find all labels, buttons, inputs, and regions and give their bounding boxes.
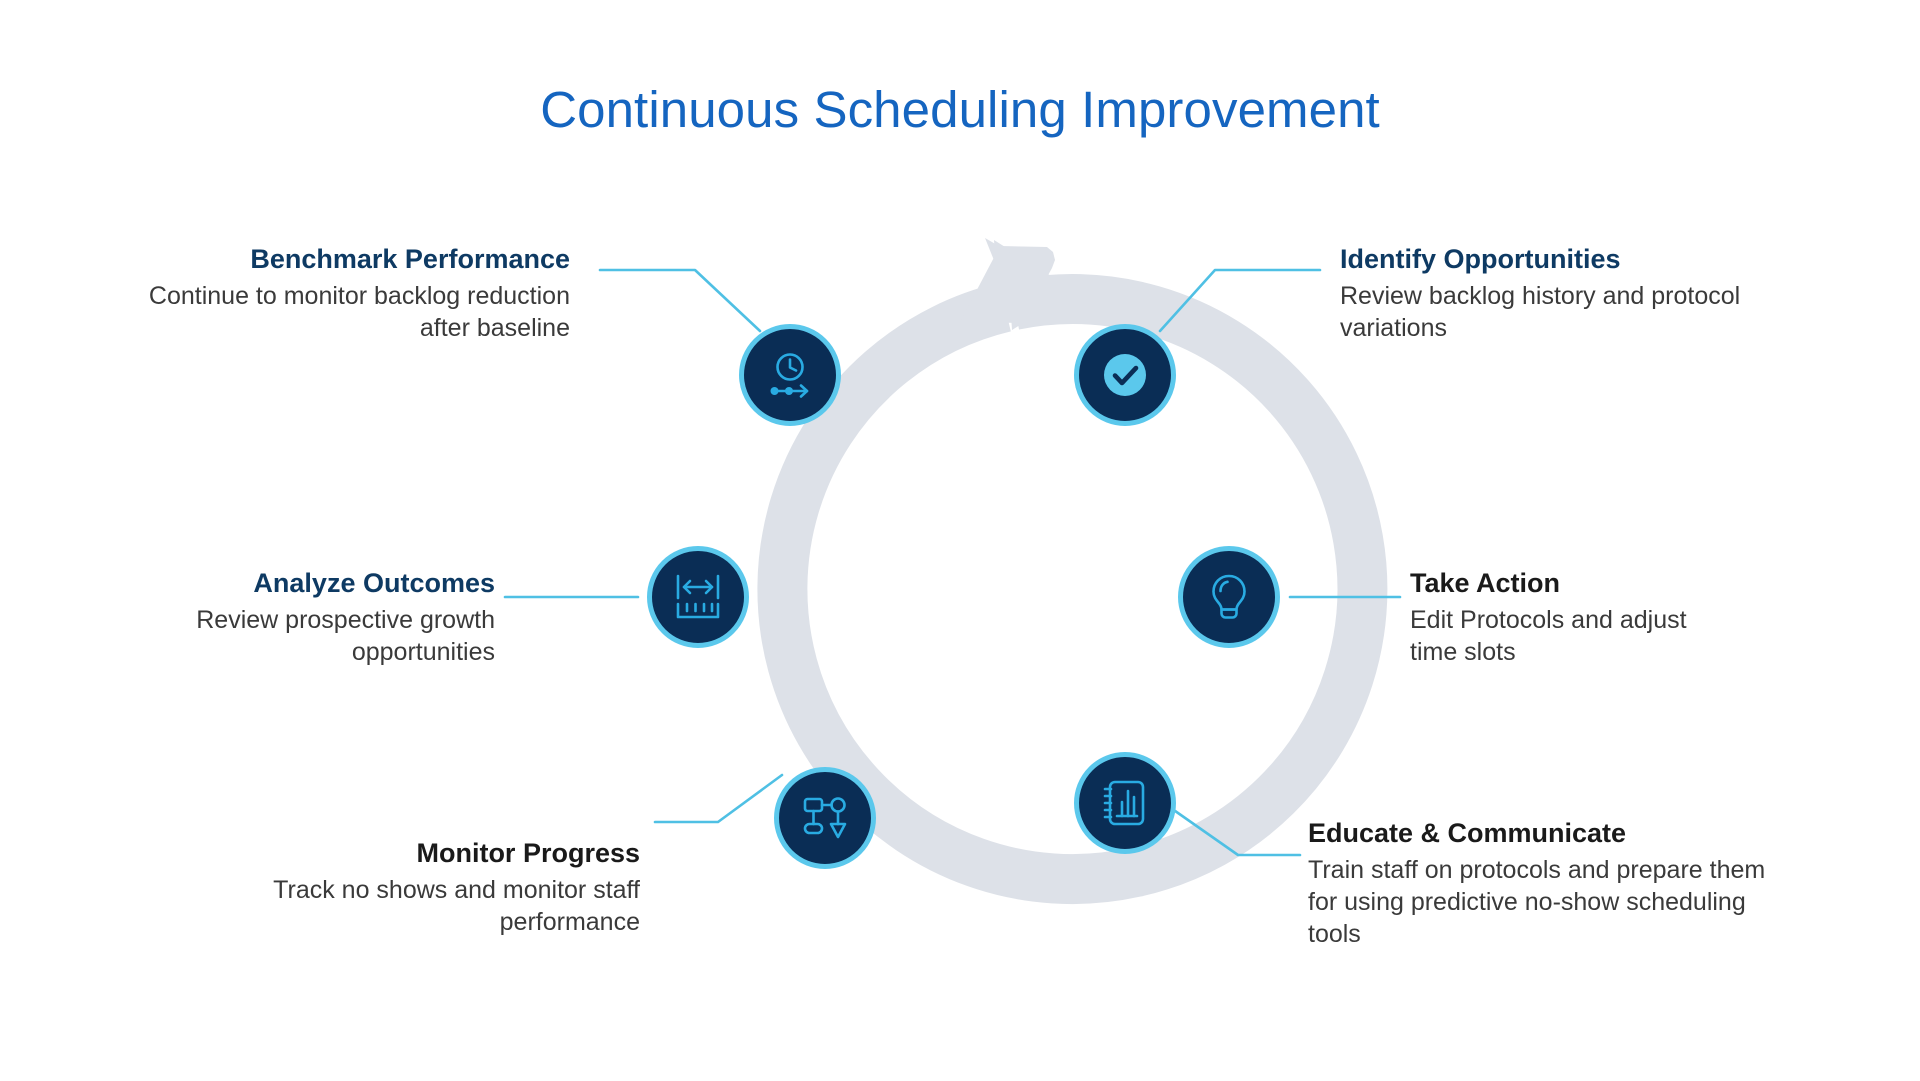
- body-take-action: Edit Protocols and adjust time slots: [1410, 604, 1740, 668]
- heading-monitor-progress: Monitor Progress: [200, 838, 640, 869]
- cycle-ring-arc: [782, 238, 1362, 879]
- label-analyze-outcomes: Analyze Outcomes Review prospective grow…: [120, 568, 495, 668]
- node-analyze-outcomes[interactable]: [647, 546, 749, 648]
- body-identify-opportunities: Review backlog history and protocol vari…: [1340, 280, 1770, 344]
- connector-identify-opportunities: [1160, 270, 1320, 331]
- body-monitor-progress: Track no shows and monitor staff perform…: [200, 874, 640, 938]
- clock-timeline-icon: [762, 347, 818, 403]
- heading-educate-communicate: Educate & Communicate: [1308, 818, 1788, 849]
- connector-monitor-progress: [655, 775, 782, 822]
- label-take-action: Take Action Edit Protocols and adjust ti…: [1410, 568, 1740, 668]
- diagram-canvas: Continuous Scheduling Improvement: [0, 0, 1920, 1081]
- heading-analyze-outcomes: Analyze Outcomes: [120, 568, 495, 599]
- node-monitor-progress[interactable]: [774, 767, 876, 869]
- flowchart-icon: [798, 791, 852, 845]
- label-identify-opportunities: Identify Opportunities Review backlog hi…: [1340, 244, 1770, 344]
- label-monitor-progress: Monitor Progress Track no shows and moni…: [200, 838, 640, 938]
- body-analyze-outcomes: Review prospective growth opportunities: [120, 604, 495, 668]
- node-benchmark-performance[interactable]: [739, 324, 841, 426]
- heading-benchmark-performance: Benchmark Performance: [120, 244, 570, 275]
- measure-ruler-icon: [671, 570, 725, 624]
- notebook-chart-icon: [1098, 776, 1152, 830]
- connector-educate-communicate: [1168, 806, 1300, 855]
- lightbulb-icon: [1202, 570, 1256, 624]
- heading-take-action: Take Action: [1410, 568, 1740, 599]
- check-circle-icon: [1096, 346, 1154, 404]
- page-title: Continuous Scheduling Improvement: [0, 80, 1920, 139]
- node-educate-communicate[interactable]: [1074, 752, 1176, 854]
- node-identify-opportunities[interactable]: [1074, 324, 1176, 426]
- heading-identify-opportunities: Identify Opportunities: [1340, 244, 1770, 275]
- connector-benchmark-performance: [600, 270, 760, 331]
- label-benchmark-performance: Benchmark Performance Continue to monito…: [120, 244, 570, 344]
- node-take-action[interactable]: [1178, 546, 1280, 648]
- body-educate-communicate: Train staff on protocols and prepare the…: [1308, 854, 1788, 950]
- body-benchmark-performance: Continue to monitor backlog reduction af…: [120, 280, 570, 344]
- label-educate-communicate: Educate & Communicate Train staff on pro…: [1308, 818, 1788, 950]
